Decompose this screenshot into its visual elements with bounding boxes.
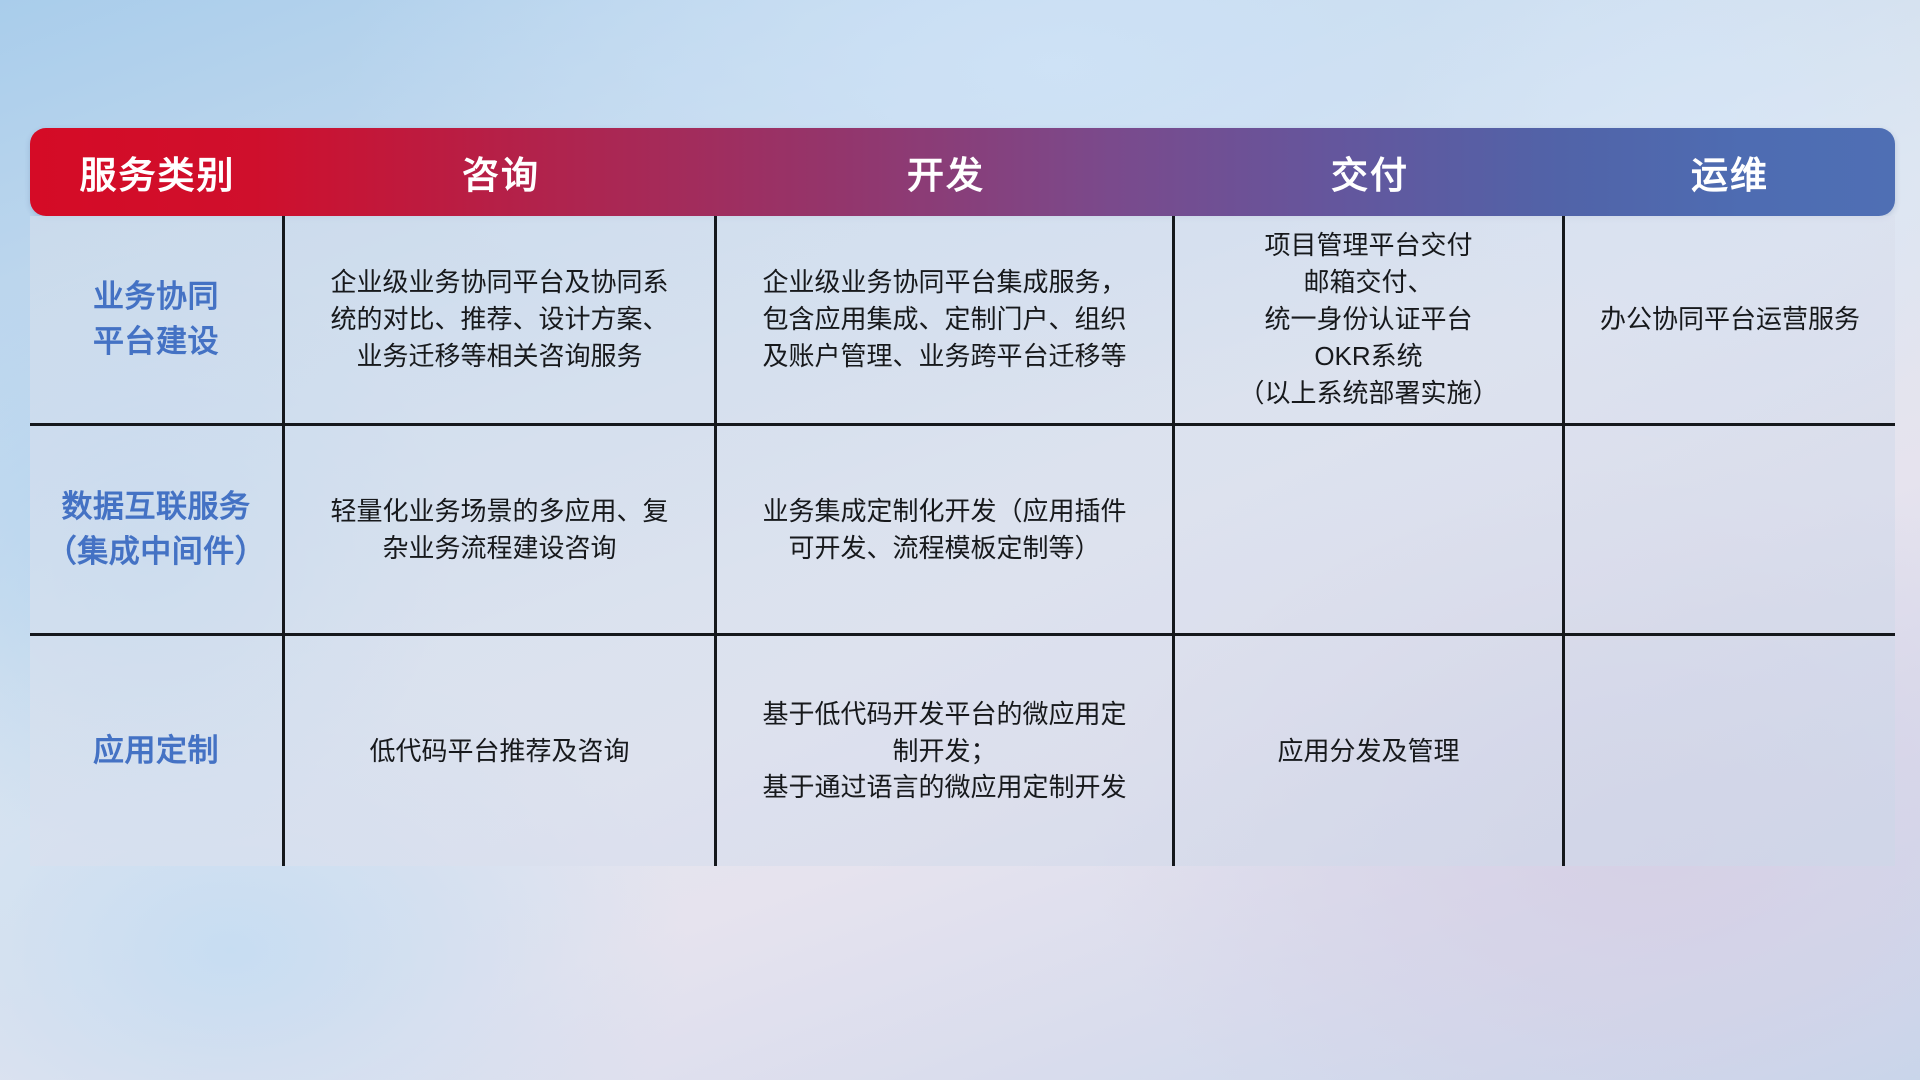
development-text: 基于低代码开发平台的微应用定 制开发； 基于通过语言的微应用定制开发 bbox=[762, 696, 1126, 807]
row-operations-cell: 办公协同平台运营服务 bbox=[1565, 216, 1895, 423]
row-development-cell: 基于低代码开发平台的微应用定 制开发； 基于通过语言的微应用定制开发 bbox=[717, 636, 1175, 866]
delivery-text: 应用分发及管理 bbox=[1277, 733, 1459, 770]
row-delivery-cell: 应用分发及管理 bbox=[1175, 636, 1565, 866]
table-header-cell-development: 开发 bbox=[717, 145, 1175, 199]
operations-text: 办公协同平台运营服务 bbox=[1600, 301, 1860, 338]
table-row: 应用定制 低代码平台推荐及咨询 基于低代码开发平台的微应用定 制开发； 基于通过… bbox=[30, 636, 1895, 866]
consulting-text: 轻量化业务场景的多应用、复 杂业务流程建设咨询 bbox=[330, 493, 668, 567]
row-category-cell: 业务协同 平台建设 bbox=[30, 216, 285, 423]
service-matrix-table: 服务类别 咨询 开发 交付 运维 业务协同 平台建设 企业级业务协同平台及协同系… bbox=[30, 128, 1895, 866]
development-text: 业务集成定制化开发（应用插件 可开发、流程模板定制等） bbox=[762, 493, 1126, 567]
row-operations-cell bbox=[1565, 426, 1895, 633]
category-label: 业务协同 平台建设 bbox=[93, 275, 219, 365]
row-development-cell: 企业级业务协同平台集成服务， 包含应用集成、定制门户、组织 及账户管理、业务跨平… bbox=[717, 216, 1175, 423]
table-header-cell-consulting: 咨询 bbox=[285, 145, 717, 199]
consulting-text: 低代码平台推荐及咨询 bbox=[369, 733, 629, 770]
row-development-cell: 业务集成定制化开发（应用插件 可开发、流程模板定制等） bbox=[717, 426, 1175, 633]
category-label: 应用定制 bbox=[93, 729, 219, 774]
table-header-cell-delivery: 交付 bbox=[1175, 145, 1565, 199]
table-row: 业务协同 平台建设 企业级业务协同平台及协同系 统的对比、推荐、设计方案、 业务… bbox=[30, 216, 1895, 426]
category-label: 数据互联服务 （集成中间件） bbox=[46, 485, 267, 575]
development-text: 企业级业务协同平台集成服务， 包含应用集成、定制门户、组织 及账户管理、业务跨平… bbox=[762, 264, 1126, 375]
delivery-text: 项目管理平台交付 邮箱交付、 统一身份认证平台 OKR系统 （以上系统部署实施） bbox=[1238, 227, 1498, 412]
table-header-row: 服务类别 咨询 开发 交付 运维 bbox=[30, 128, 1895, 216]
row-category-cell: 数据互联服务 （集成中间件） bbox=[30, 426, 285, 633]
row-delivery-cell: 项目管理平台交付 邮箱交付、 统一身份认证平台 OKR系统 （以上系统部署实施） bbox=[1175, 216, 1565, 423]
table-header-cell-operations: 运维 bbox=[1565, 145, 1895, 199]
table-header-cell-category: 服务类别 bbox=[30, 145, 285, 199]
table-row: 数据互联服务 （集成中间件） 轻量化业务场景的多应用、复 杂业务流程建设咨询 业… bbox=[30, 426, 1895, 636]
row-category-cell: 应用定制 bbox=[30, 636, 285, 866]
table-body: 业务协同 平台建设 企业级业务协同平台及协同系 统的对比、推荐、设计方案、 业务… bbox=[30, 216, 1895, 866]
row-delivery-cell bbox=[1175, 426, 1565, 633]
consulting-text: 企业级业务协同平台及协同系 统的对比、推荐、设计方案、 业务迁移等相关咨询服务 bbox=[330, 264, 668, 375]
row-operations-cell bbox=[1565, 636, 1895, 866]
row-consulting-cell: 企业级业务协同平台及协同系 统的对比、推荐、设计方案、 业务迁移等相关咨询服务 bbox=[285, 216, 717, 423]
row-consulting-cell: 轻量化业务场景的多应用、复 杂业务流程建设咨询 bbox=[285, 426, 717, 633]
row-consulting-cell: 低代码平台推荐及咨询 bbox=[285, 636, 717, 866]
